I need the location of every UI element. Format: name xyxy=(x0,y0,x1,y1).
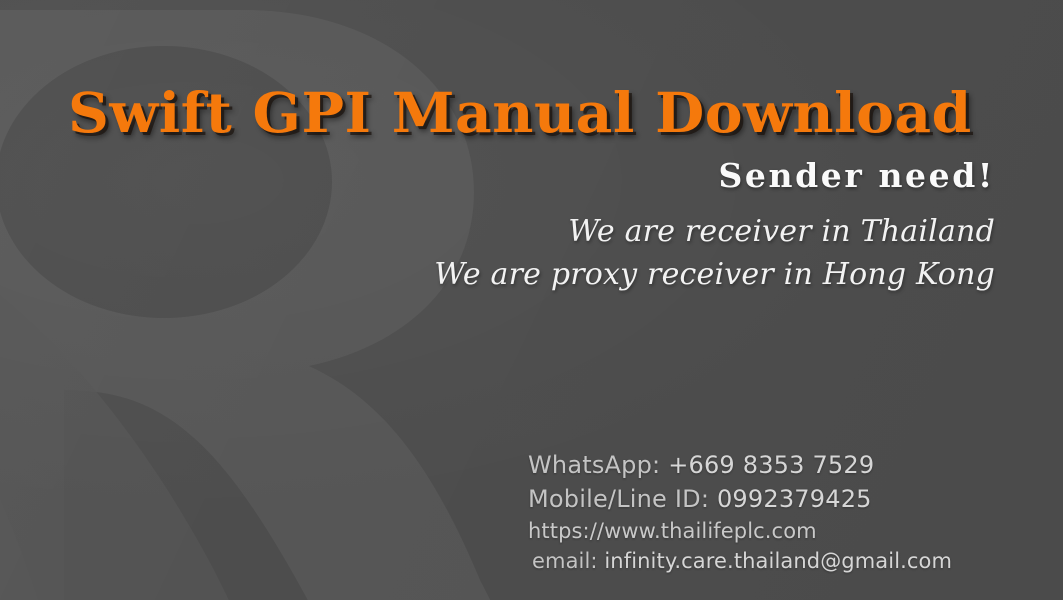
script-lines: We are receiver in Thailand We are proxy… xyxy=(434,210,995,296)
contact-block: WhatsApp: +669 8353 7529 Mobile/Line ID:… xyxy=(528,448,952,576)
contact-mobile-value[interactable]: 0992379425 xyxy=(717,485,872,513)
contact-email-value[interactable]: infinity.care.thailand@gmail.com xyxy=(604,549,952,573)
contact-mobile-label: Mobile/Line ID: xyxy=(528,485,709,513)
headline-sender-need: Sender need! xyxy=(718,156,995,196)
contact-email: email: infinity.care.thailand@gmail.com xyxy=(528,546,952,576)
page-title: Swift GPI Manual Download xyxy=(68,82,1026,144)
contact-email-label: email: xyxy=(532,549,598,573)
contact-whatsapp: WhatsApp: +669 8353 7529 xyxy=(528,448,952,482)
script-line-proxy-hong-kong: We are proxy receiver in Hong Kong xyxy=(434,253,995,296)
contact-mobile-line-id: Mobile/Line ID: 0992379425 xyxy=(528,482,952,516)
contact-website-link[interactable]: https://www.thailifeplc.com xyxy=(528,516,952,546)
contact-whatsapp-label: WhatsApp: xyxy=(528,451,660,479)
script-line-receiver-thailand: We are receiver in Thailand xyxy=(434,210,995,253)
contact-whatsapp-value[interactable]: +669 8353 7529 xyxy=(668,451,874,479)
promo-poster: Swift GPI Manual Download Sender need! W… xyxy=(0,0,1063,600)
